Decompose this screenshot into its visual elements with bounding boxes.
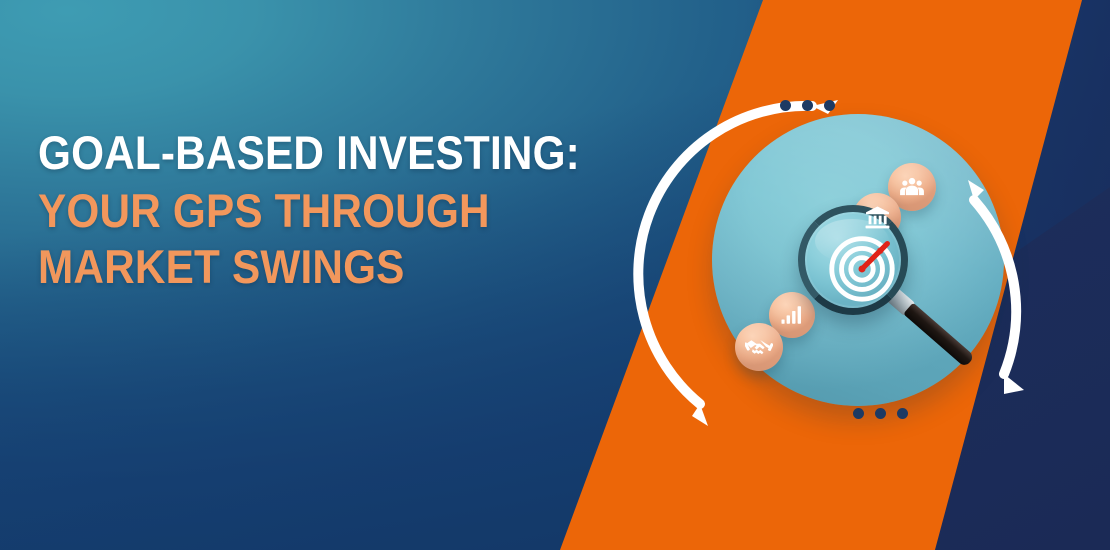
magnifying-glass (798, 205, 998, 390)
handshake-icon (745, 333, 773, 361)
dot (897, 408, 908, 419)
bank-building-icon (864, 204, 891, 231)
headline-line-1: GOAL-BASED INVESTING: (38, 130, 596, 176)
headline-block: GOAL-BASED INVESTING: YOUR GPS THROUGH M… (38, 130, 658, 290)
dot (875, 408, 886, 419)
target-bullseye-icon (823, 228, 901, 306)
dot (802, 100, 813, 111)
top-dots (780, 100, 835, 111)
dot (824, 100, 835, 111)
bar-chart-icon (780, 303, 804, 327)
promo-banner: GOAL-BASED INVESTING: YOUR GPS THROUGH M… (0, 0, 1110, 550)
headline-line-2: YOUR GPS THROUGH (38, 188, 596, 234)
dot (780, 100, 791, 111)
people-group-icon (899, 174, 925, 200)
magnifier-lens (798, 205, 908, 315)
bottom-dots (853, 408, 908, 419)
token-handshake (735, 323, 783, 371)
magnifier-grip (903, 303, 975, 368)
dot (853, 408, 864, 419)
headline-line-3: MARKET SWINGS (38, 244, 596, 290)
